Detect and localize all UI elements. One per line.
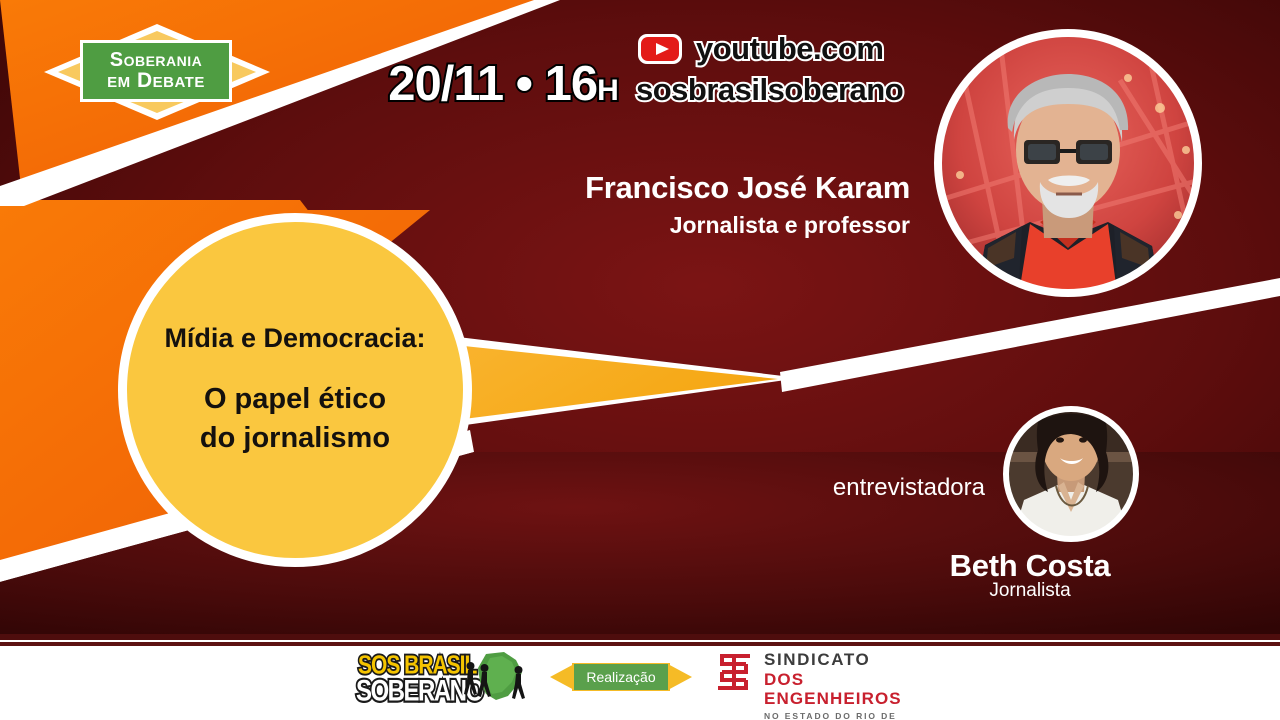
guest-name: Francisco José Karam: [520, 170, 910, 206]
program-logo: Soberania em Debate: [42, 22, 272, 122]
sindicato-line2: DOS ENGENHEIROS: [764, 670, 926, 709]
guest-role: Jornalista e professor: [520, 212, 910, 239]
sindicato-line3: NO ESTADO DO RIO DE JANEIRO: [764, 711, 926, 720]
channel-site-row[interactable]: youtube.com: [636, 31, 883, 67]
footer-divider-thick: [0, 634, 1280, 640]
realizacao-label: Realização: [586, 669, 655, 685]
topic-circle: Mídia e Democracia: O papel ético do jor…: [118, 213, 472, 567]
event-time: 16: [545, 57, 598, 111]
topic-line2: O papel ético: [200, 380, 390, 418]
sos-brasil-soberano-logo: SOS BRASIL SOBERANO: [356, 650, 532, 702]
host-label: entrevistadora: [720, 474, 985, 502]
realizacao-box: Realização: [574, 664, 668, 690]
topic-line3: do jornalismo: [200, 419, 390, 457]
host-name: Beth Costa: [900, 548, 1160, 584]
host-role: Jornalista: [900, 580, 1160, 602]
channel-site-label[interactable]: youtube.com: [696, 31, 883, 67]
brazil-map-icon: [456, 650, 536, 702]
footer-divider-thin: [0, 642, 1280, 646]
sindicato-mark-icon: [712, 650, 756, 698]
program-logo-box: Soberania em Debate: [80, 40, 232, 102]
event-time-unit: H: [597, 74, 618, 107]
program-logo-line1: Soberania: [110, 50, 203, 70]
sindicato-logo: SINDICATO DOS ENGENHEIROS NO ESTADO DO R…: [712, 650, 926, 700]
event-datetime: 20/11 • 16H: [378, 56, 628, 112]
youtube-play-icon[interactable]: [636, 32, 684, 66]
realizacao-badge: Realização: [550, 658, 692, 696]
datetime-separator: •: [516, 57, 532, 111]
program-logo-line2: em Debate: [107, 70, 205, 92]
channel-handle-label[interactable]: sosbrasilsoberano: [636, 72, 903, 108]
topic-line1: Mídia e Democracia:: [164, 323, 425, 354]
promo-poster: Soberania em Debate 20/11 • 16H youtube.…: [0, 0, 1280, 720]
event-date: 20/11: [388, 57, 503, 111]
sindicato-line1: SINDICATO: [764, 650, 926, 670]
